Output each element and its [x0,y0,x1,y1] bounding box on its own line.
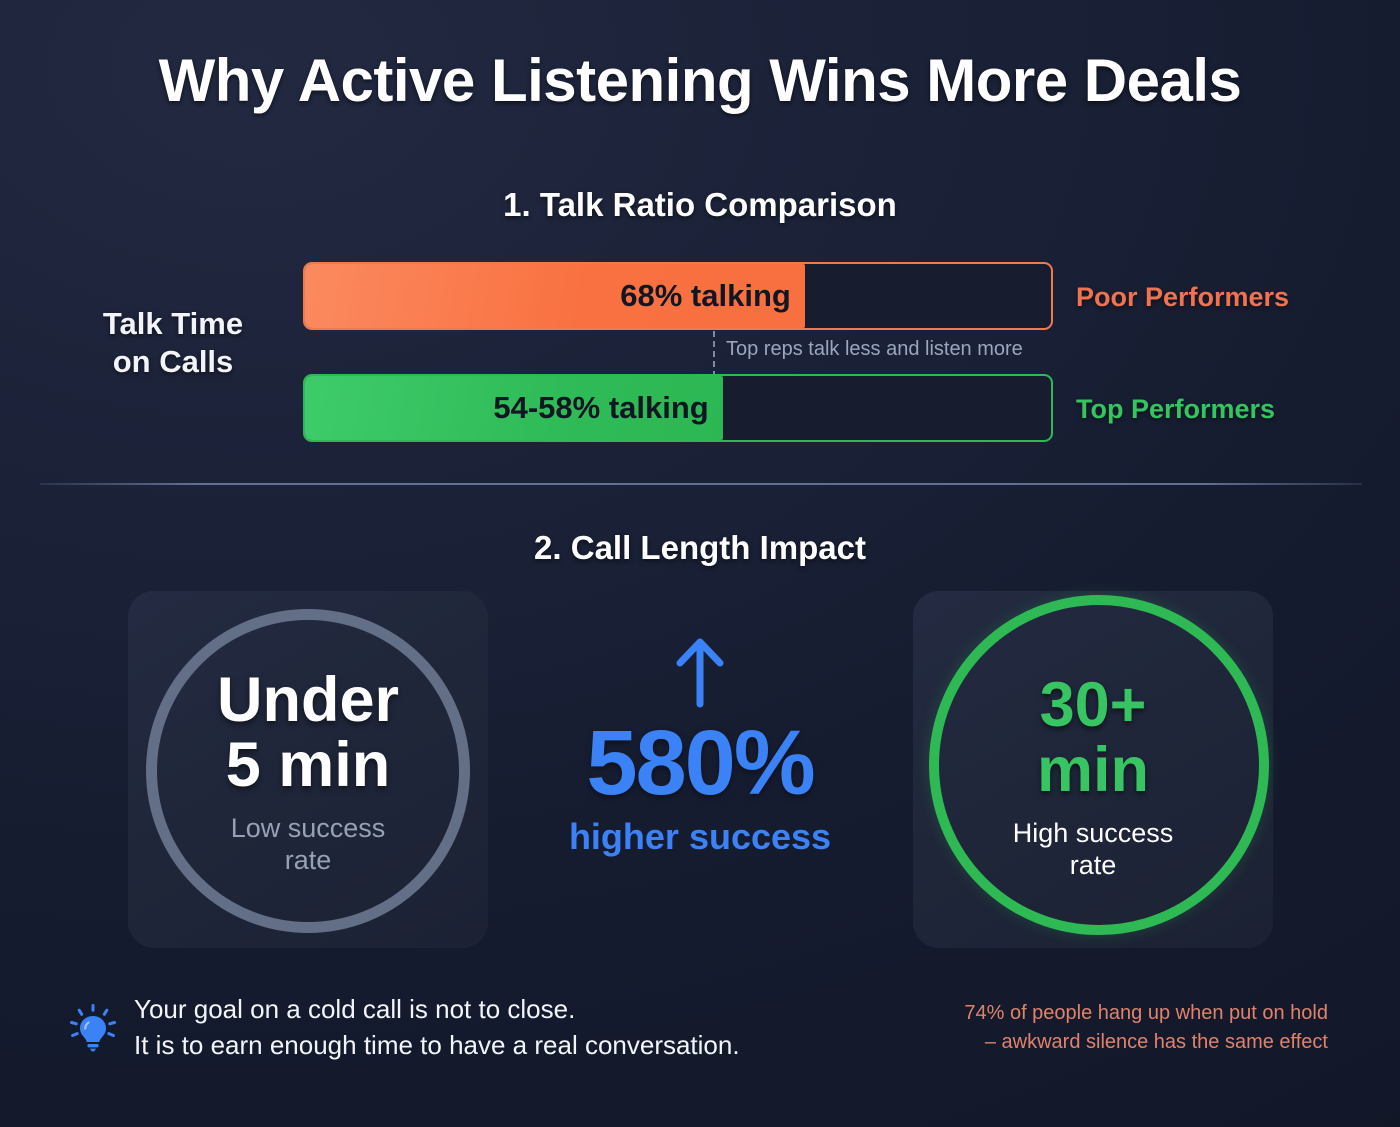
section-divider [40,483,1362,485]
bar-label-top-performers: Top Performers [1076,394,1275,425]
takeaway-stat-line-2: – awkward silence has the same effect [964,1028,1328,1056]
center-stat-block: 580% higher success [500,636,900,858]
arrow-up-icon [673,636,727,708]
metric-card-right-text: 30+ min High success rate [913,673,1273,882]
comparison-dashed-line [713,331,715,377]
metric-right-caption-line-1: High success [913,817,1273,849]
bar-label-poor-performers: Poor Performers [1076,282,1289,313]
bar-value-poor-performers: 68% talking [620,278,791,314]
page-title: Why Active Listening Wins More Deals [0,46,1400,115]
bar-fill-poor-performers: 68% talking [305,264,805,328]
metric-right-caption: High success rate [913,817,1273,882]
metric-right-value-line-2: min [913,738,1273,803]
metric-right-caption-line-2: rate [913,849,1273,881]
metric-right-value-line-1: 30+ [913,673,1273,738]
comparison-note: Top reps talk less and listen more [726,338,1023,361]
metric-left-value: Under 5 min [128,668,488,798]
takeaway-line-2: It is to earn enough time to have a real… [134,1028,964,1064]
talk-time-line-2: on Calls [48,343,298,381]
talk-time-axis-label: Talk Time on Calls [48,305,298,381]
lightbulb-icon [70,1004,116,1052]
metric-left-value-line-2: 5 min [128,733,488,798]
takeaway-text: Your goal on a cold call is not to close… [134,992,964,1064]
metric-left-value-line-1: Under [128,668,488,733]
center-stat-value: 580% [500,718,900,808]
section-1-heading: 1. Talk Ratio Comparison [0,186,1400,224]
takeaway-stat-line-1: 74% of people hang up when put on hold [964,999,1328,1027]
center-stat-caption: higher success [500,816,900,858]
metric-left-caption-line-2: rate [128,844,488,876]
section-2-heading: 2. Call Length Impact [0,529,1400,567]
talk-time-line-1: Talk Time [48,305,298,343]
bar-value-top-performers: 54-58% talking [493,390,708,426]
takeaway-callout: Your goal on a cold call is not to close… [48,980,1352,1075]
bar-track-poor-performers: 68% talking [303,262,1053,330]
infographic-canvas: Why Active Listening Wins More Deals 1. … [0,0,1400,1127]
metric-right-value: 30+ min [913,673,1273,803]
takeaway-stat-note: 74% of people hang up when put on hold –… [964,999,1328,1056]
bar-track-top-performers: 54-58% talking [303,374,1053,442]
takeaway-line-1: Your goal on a cold call is not to close… [134,992,964,1028]
metric-left-caption: Low success rate [128,812,488,877]
metric-left-caption-line-1: Low success [128,812,488,844]
metric-card-left-text: Under 5 min Low success rate [128,668,488,877]
bar-fill-top-performers: 54-58% talking [305,376,723,440]
